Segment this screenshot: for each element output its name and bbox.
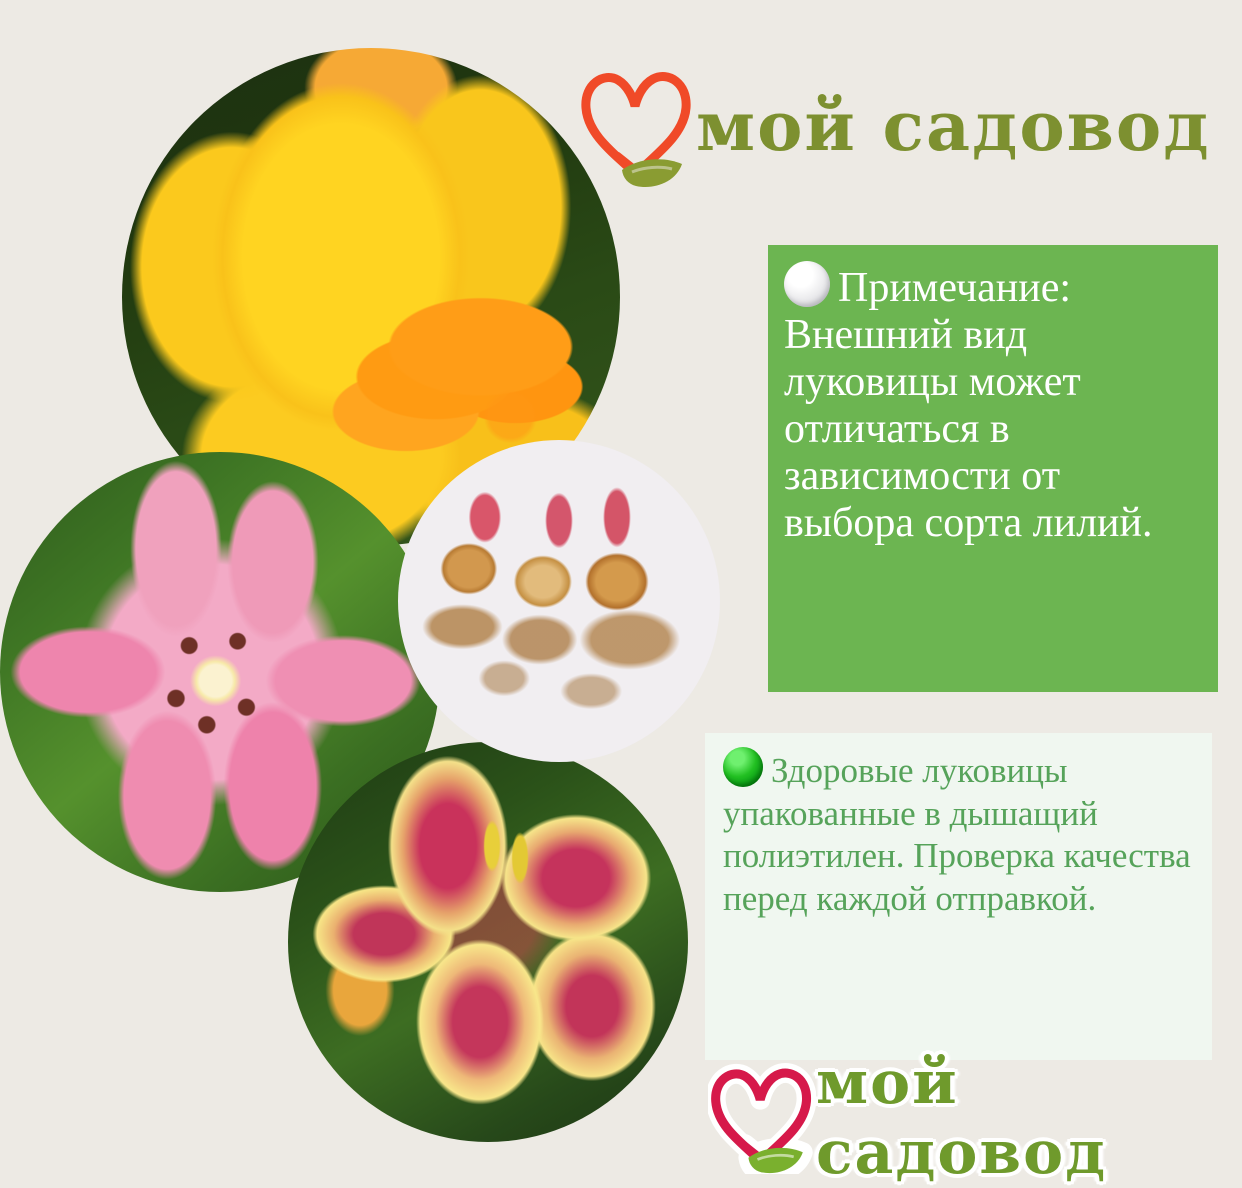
- poster-canvas: мой садовод Примечание: Внешний вид луко…: [0, 0, 1242, 1164]
- tip-full-text: Здоровые луковицы упакованные в дышащий …: [723, 751, 1191, 918]
- note-full-text: Примечание: Внешний вид луковицы может о…: [784, 265, 1153, 546]
- logo-mark-top: [578, 60, 696, 193]
- logo-mark-bottom: [708, 1058, 816, 1179]
- note-text: Примечание: Внешний вид луковицы может о…: [784, 261, 1196, 547]
- brand-logo-bottom: мой садовод: [708, 1048, 1242, 1188]
- photo-bicolor-lily: [288, 742, 688, 1142]
- note-callout-box: Примечание: Внешний вид луковицы может о…: [768, 245, 1218, 692]
- photo-lily-bulbs: [398, 440, 720, 762]
- brand-logo-top: мой садовод: [578, 60, 1211, 193]
- tip-text: Здоровые луковицы упакованные в дышащий …: [723, 747, 1198, 921]
- green-sphere-bullet-icon: [723, 747, 763, 787]
- brand-name-top: мой садовод: [696, 87, 1211, 167]
- silver-sphere-bullet-icon: [784, 261, 830, 307]
- tip-callout-box: Здоровые луковицы упакованные в дышащий …: [705, 733, 1212, 1060]
- brand-name-bottom: мой садовод: [816, 1048, 1242, 1188]
